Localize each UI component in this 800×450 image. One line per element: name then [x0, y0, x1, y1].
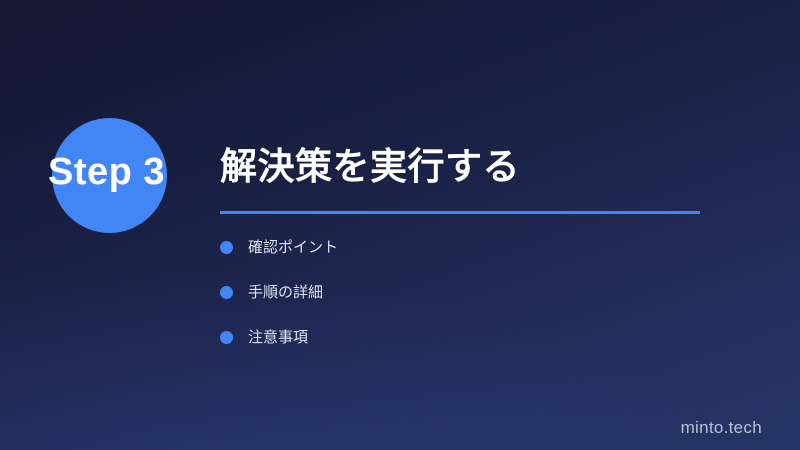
- footer-brand: minto.tech: [681, 419, 762, 436]
- bullet-item-label: 手順の詳細: [248, 285, 323, 300]
- presentation-slide: Step 3 解決策を実行する 確認ポイント 手順の詳細 注意事項 minto.…: [0, 0, 800, 450]
- bullet-dot-icon: [220, 331, 233, 344]
- list-item: 確認ポイント: [220, 236, 338, 258]
- bullet-list: 確認ポイント 手順の詳細 注意事項: [220, 236, 338, 371]
- bullet-dot-icon: [220, 286, 233, 299]
- list-item: 手順の詳細: [220, 281, 338, 303]
- bullet-item-label: 注意事項: [248, 330, 308, 345]
- step-badge-label: Step 3: [48, 153, 165, 191]
- slide-title: 解決策を実行する: [220, 147, 520, 188]
- list-item: 注意事項: [220, 326, 338, 348]
- bullet-item-label: 確認ポイント: [248, 240, 338, 255]
- bullet-dot-icon: [220, 241, 233, 254]
- title-underline-rule: [220, 211, 700, 214]
